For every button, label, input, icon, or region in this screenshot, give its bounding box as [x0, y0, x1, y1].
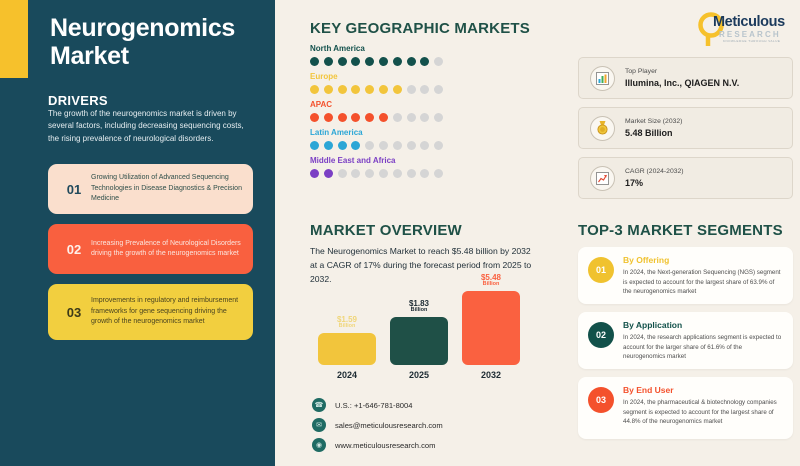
geo-dot-filled: [324, 113, 333, 122]
geo-dot-filled: [324, 141, 333, 150]
info-card-label: Market Size (2032): [625, 118, 682, 125]
geo-row: APAC: [310, 100, 443, 122]
geo-dot-empty: [407, 141, 416, 150]
contact-row[interactable]: ◉www.meticulousresearch.com: [312, 438, 435, 452]
segment-body: In 2024, the Next-generation Sequencing …: [623, 268, 783, 297]
geo-dot-empty: [434, 113, 443, 122]
chart-bar-unit: Billion: [462, 282, 520, 288]
bar-chart-icon: [590, 66, 615, 91]
phone-icon: ☎: [312, 398, 326, 412]
geo-dot-filled: [324, 169, 333, 178]
segment-body: In 2024, the pharmaceutical & biotechnol…: [623, 398, 783, 427]
logo-wordmark: Meticulous: [713, 14, 785, 30]
left-panel: Neurogenomics Market DRIVERS The growth …: [0, 0, 275, 466]
geo-dot-empty: [365, 141, 374, 150]
geo-dot-scale: [310, 85, 443, 94]
info-card-market-size: Market Size (2032) 5.48 Billion: [578, 107, 793, 149]
info-card-cagr: CAGR (2024-2032) 17%: [578, 157, 793, 199]
meticulous-research-logo: Meticulous RESEARCH KNOWLEDGE THROUGH VA…: [695, 10, 793, 50]
geo-dot-filled: [310, 57, 319, 66]
chart-bar-value: $5.48Billion: [462, 274, 520, 288]
segment-heading: By End User: [623, 385, 783, 395]
info-card-label: Top Player: [625, 68, 739, 75]
geo-dot-empty: [420, 169, 429, 178]
info-card-label: CAGR (2024-2032): [625, 168, 684, 175]
segment-card-by-application: 02 By Application In 2024, the research …: [578, 312, 793, 369]
driver-text: Growing Utilization of Advanced Sequenci…: [91, 173, 244, 204]
driver-text: Improvements in regulatory and reimburse…: [91, 296, 244, 327]
chart-bar-value: $1.83Billion: [390, 300, 448, 314]
geo-dot-empty: [379, 169, 388, 178]
geo-region-label: APAC: [310, 100, 443, 109]
geo-dot-filled: [351, 141, 360, 150]
chart-bar-group: $5.48Billion2032: [462, 291, 520, 365]
geo-dot-empty: [365, 169, 374, 178]
geo-dot-scale: [310, 141, 443, 150]
logo-subtext: RESEARCH: [719, 30, 781, 39]
geo-dot-filled: [393, 85, 402, 94]
contact-text[interactable]: www.meticulousresearch.com: [335, 441, 435, 450]
info-card-top-player: Top Player Illumina, Inc., QIAGEN N.V.: [578, 57, 793, 99]
infographic-page: Neurogenomics Market DRIVERS The growth …: [0, 0, 800, 466]
chart-bar-unit: Billion: [318, 324, 376, 330]
geo-dot-filled: [324, 57, 333, 66]
segment-body: In 2024, the research applications segme…: [623, 333, 783, 362]
geo-row: North America: [310, 44, 443, 66]
contact-row[interactable]: ✉sales@meticulousresearch.com: [312, 418, 443, 432]
market-segments-title: TOP-3 MARKET SEGMENTS: [578, 222, 783, 239]
chart-bar-unit: Billion: [390, 308, 448, 314]
geo-dot-scale: [310, 113, 443, 122]
geo-dot-filled: [338, 57, 347, 66]
chart-x-tick-label: 2024: [318, 370, 376, 380]
driver-text: Increasing Prevalence of Neurological Di…: [91, 239, 244, 260]
market-size-bar-chart: $1.59Billion2024$1.83Billion2025$5.48Bil…: [318, 288, 528, 383]
segment-badge: 01: [588, 257, 614, 283]
geo-dot-filled: [365, 57, 374, 66]
segment-card-by-end-user: 03 By End User In 2024, the pharmaceutic…: [578, 377, 793, 439]
geo-dot-empty: [434, 57, 443, 66]
geo-dot-filled: [365, 113, 374, 122]
logo-tagline: KNOWLEDGE THROUGH VALUE: [723, 39, 780, 43]
page-title: Neurogenomics Market: [50, 14, 265, 70]
segment-heading: By Offering: [623, 255, 783, 265]
geo-dot-empty: [420, 113, 429, 122]
email-icon: ✉: [312, 418, 326, 432]
market-overview-title: MARKET OVERVIEW: [310, 222, 462, 239]
contact-text[interactable]: U.S.: +1-646-781-8004: [335, 401, 412, 410]
geo-dot-empty: [434, 169, 443, 178]
geo-dot-filled: [379, 113, 388, 122]
geo-dot-empty: [351, 169, 360, 178]
chart-x-tick-label: 2025: [390, 370, 448, 380]
geo-dot-empty: [420, 141, 429, 150]
geo-dot-scale: [310, 169, 443, 178]
chart-x-tick-label: 2032: [462, 370, 520, 380]
geo-row: Middle East and Africa: [310, 156, 443, 178]
chart-bar: [318, 333, 376, 365]
geo-dot-empty: [407, 85, 416, 94]
segment-heading: By Application: [623, 320, 783, 330]
geo-dot-empty: [420, 85, 429, 94]
geo-dot-filled: [310, 141, 319, 150]
geo-dot-filled: [351, 57, 360, 66]
growth-icon: [590, 166, 615, 191]
geo-row: Europe: [310, 72, 443, 94]
geo-dot-empty: [393, 169, 402, 178]
geo-region-label: Middle East and Africa: [310, 156, 443, 165]
geo-dot-filled: [379, 57, 388, 66]
driver-card-02: 02 Increasing Prevalence of Neurological…: [48, 224, 253, 274]
geo-dot-empty: [407, 169, 416, 178]
geo-dot-empty: [407, 113, 416, 122]
driver-card-03: 03 Improvements in regulatory and reimbu…: [48, 284, 253, 340]
geo-dot-empty: [393, 113, 402, 122]
geo-dot-filled: [338, 85, 347, 94]
chart-bar-group: $1.83Billion2025: [390, 317, 448, 365]
contact-row[interactable]: ☎U.S.: +1-646-781-8004: [312, 398, 412, 412]
geo-dot-filled: [310, 169, 319, 178]
info-card-value: 5.48 Billion: [625, 128, 682, 138]
geo-region-label: North America: [310, 44, 443, 53]
geo-dot-scale: [310, 57, 443, 66]
chart-bar-value: $1.59Billion: [318, 316, 376, 330]
geographic-markets-title: KEY GEOGRAPHIC MARKETS: [310, 20, 530, 37]
driver-number: 03: [57, 305, 91, 320]
driver-number: 01: [57, 182, 91, 197]
geo-dot-filled: [393, 57, 402, 66]
geo-dot-filled: [420, 57, 429, 66]
segment-badge: 02: [588, 322, 614, 348]
contact-text[interactable]: sales@meticulousresearch.com: [335, 421, 443, 430]
geo-dot-filled: [310, 113, 319, 122]
geo-region-label: Europe: [310, 72, 443, 81]
geo-region-label: Latin America: [310, 128, 443, 137]
geo-dot-filled: [365, 85, 374, 94]
geo-dot-filled: [379, 85, 388, 94]
chart-bar-group: $1.59Billion2024: [318, 333, 376, 365]
geo-dot-filled: [407, 57, 416, 66]
geo-dot-filled: [351, 85, 360, 94]
geo-dot-filled: [310, 85, 319, 94]
globe-icon: ◉: [312, 438, 326, 452]
chart-bar: [462, 291, 520, 365]
geo-dot-empty: [338, 169, 347, 178]
driver-number: 02: [57, 242, 91, 257]
geo-dot-empty: [434, 85, 443, 94]
geo-row: Latin America: [310, 128, 443, 150]
segment-badge: 03: [588, 387, 614, 413]
accent-bar: [0, 0, 28, 78]
geo-dot-filled: [351, 113, 360, 122]
medal-icon: [590, 116, 615, 141]
geo-dot-filled: [338, 141, 347, 150]
geo-dot-filled: [324, 85, 333, 94]
geo-dot-empty: [434, 141, 443, 150]
geo-dot-empty: [379, 141, 388, 150]
geo-dot-empty: [393, 141, 402, 150]
drivers-description: The growth of the neurogenomics market i…: [48, 108, 256, 145]
info-card-value: Illumina, Inc., QIAGEN N.V.: [625, 78, 739, 88]
drivers-heading: DRIVERS: [48, 93, 108, 108]
chart-bar: [390, 317, 448, 365]
driver-card-01: 01 Growing Utilization of Advanced Seque…: [48, 164, 253, 214]
info-card-value: 17%: [625, 178, 684, 188]
segment-card-by-offering: 01 By Offering In 2024, the Next-generat…: [578, 247, 793, 304]
geo-dot-filled: [338, 113, 347, 122]
